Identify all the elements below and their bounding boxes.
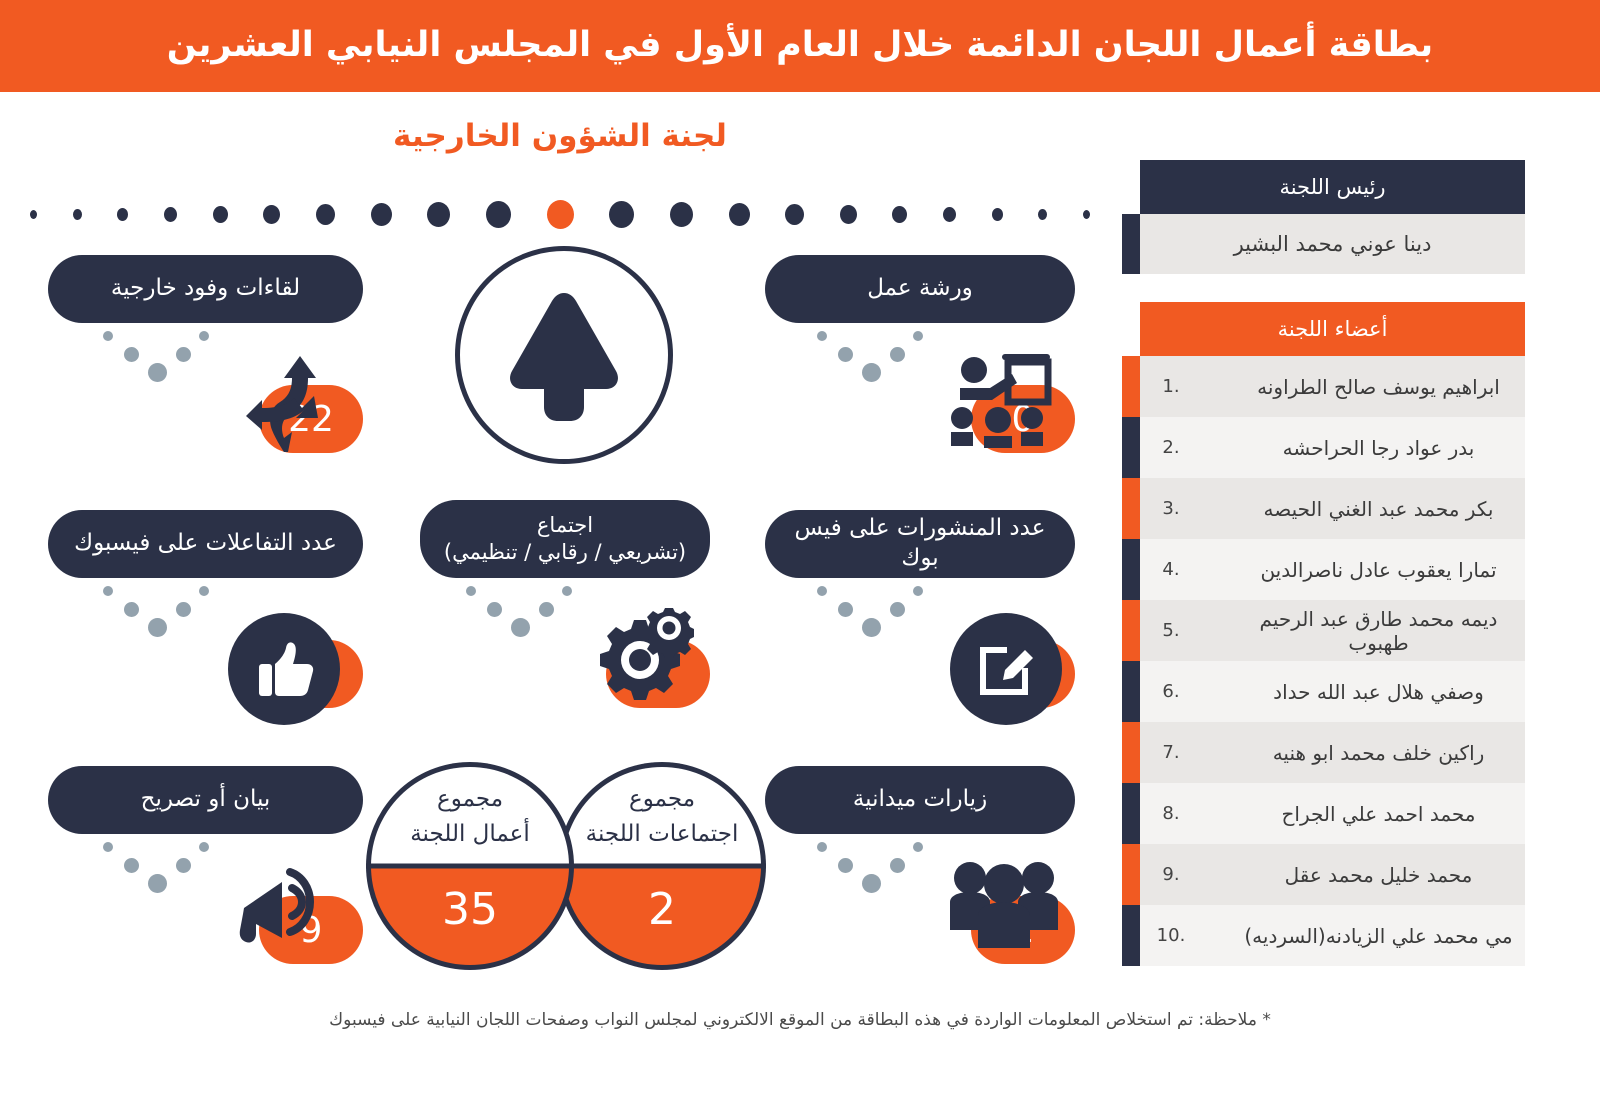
member-name: بكر محمد عبد الغني الحيصه <box>1202 497 1525 521</box>
member-row: بكر محمد عبد الغني الحيصه3. <box>1140 478 1525 539</box>
member-index: 6. <box>1140 681 1202 702</box>
progress-dot <box>943 207 956 222</box>
divider-line <box>366 864 574 869</box>
divider-line <box>558 864 766 869</box>
member-index: 5. <box>1140 620 1202 641</box>
progress-dot <box>486 201 511 228</box>
total-label-line2: أعمال اللجنة <box>410 817 530 852</box>
members-header: أعضاء اللجنة <box>1140 302 1525 356</box>
member-index: 4. <box>1140 559 1202 580</box>
member-row-tab <box>1122 844 1140 905</box>
member-name: ديمه محمد طارق عبد الرحيم طهبوب <box>1202 607 1525 655</box>
member-name: مي محمد علي الزيادنه(السرديه) <box>1202 924 1525 948</box>
people-group-icon <box>948 858 1060 950</box>
chair-section: رئيس اللجنة دينا عوني محمد البشير <box>1125 160 1525 274</box>
member-row-tab <box>1122 478 1140 539</box>
chair-header: رئيس اللجنة <box>1140 160 1525 214</box>
progress-dot <box>1038 209 1047 220</box>
edit-post-icon <box>950 613 1062 725</box>
progress-dot <box>785 204 804 225</box>
member-index: 10. <box>1140 925 1202 946</box>
member-row: مي محمد علي الزيادنه(السرديه)10. <box>1140 905 1525 966</box>
member-name: وصفي هلال عبد الله حداد <box>1202 680 1525 704</box>
progress-dot <box>117 208 128 221</box>
chair-row: دينا عوني محمد البشير <box>1140 214 1525 274</box>
member-row: ديمه محمد طارق عبد الرحيم طهبوب5. <box>1140 600 1525 661</box>
workshop-presentation-icon <box>950 348 1054 448</box>
member-row: محمد احمد علي الجراح8. <box>1140 783 1525 844</box>
member-name: محمد احمد علي الجراح <box>1202 802 1525 826</box>
stat-label-line1: اجتماع <box>537 512 593 539</box>
member-row: بدر عواد رجا الحراحشه2. <box>1140 417 1525 478</box>
chair-name: دينا عوني محمد البشير <box>1234 232 1432 256</box>
panel-spacer <box>1125 274 1525 302</box>
gears-icon <box>580 608 696 704</box>
member-row: تمارا يعقوب عادل ناصرالدين4. <box>1140 539 1525 600</box>
page-title: بطاقة أعمال اللجان الدائمة خلال العام ال… <box>87 24 1513 68</box>
member-row-tab <box>1122 661 1140 722</box>
stat-label: عدد المنشورات على فيس بوك <box>765 510 1075 578</box>
stat-label: لقاءات وفود خارجية <box>48 255 363 323</box>
committee-progress-dots <box>30 196 1090 232</box>
member-row: راكين خلف محمد ابو هنيه7. <box>1140 722 1525 783</box>
progress-dot <box>670 202 693 227</box>
member-name: بدر عواد رجا الحراحشه <box>1202 436 1525 460</box>
megaphone-icon <box>238 862 330 948</box>
member-index: 7. <box>1140 742 1202 763</box>
members-list: ابراهيم يوسف صالح الطراونه1.بدر عواد رجا… <box>1125 356 1525 966</box>
member-row-tab <box>1122 356 1140 417</box>
member-row-tab <box>1122 600 1140 661</box>
total-label: مجموع أعمال اللجنة <box>366 762 574 866</box>
committee-name: لجنة الشؤون الخارجية <box>0 118 1120 154</box>
progress-dot <box>992 208 1003 221</box>
total-value: 35 <box>366 866 574 970</box>
member-index: 8. <box>1140 803 1202 824</box>
member-row-tab <box>1122 783 1140 844</box>
member-name: راكين خلف محمد ابو هنيه <box>1202 741 1525 765</box>
progress-dot <box>30 210 37 219</box>
chair-row-tab <box>1122 214 1140 274</box>
total-label: مجموع اجتماعات اللجنة <box>558 762 766 866</box>
progress-dot <box>213 206 228 223</box>
crossroad-arrows-icon <box>232 352 336 456</box>
stat-label: زيارات ميدانية <box>765 766 1075 834</box>
member-index: 9. <box>1140 864 1202 885</box>
member-row: محمد خليل محمد عقل9. <box>1140 844 1525 905</box>
progress-dot <box>371 203 392 226</box>
member-index: 1. <box>1140 376 1202 397</box>
progress-dot <box>840 205 857 224</box>
member-row-tab <box>1122 905 1140 966</box>
progress-dot-active <box>547 200 574 229</box>
stat-label: بيان أو تصريح <box>48 766 363 834</box>
total-label-line1: مجموع <box>437 782 503 817</box>
progress-dot <box>427 202 450 227</box>
total-value: 2 <box>558 866 766 970</box>
stat-label: اجتماع (تشريعي / رقابي / تنظيمي) <box>420 500 710 578</box>
footnote: * ملاحظة: تم استخلاص المعلومات الواردة ف… <box>0 1010 1600 1030</box>
stat-label: ورشة عمل <box>765 255 1075 323</box>
member-index: 2. <box>1140 437 1202 458</box>
member-row: ابراهيم يوسف صالح الطراونه1. <box>1140 356 1525 417</box>
progress-dot <box>729 203 750 226</box>
member-name: ابراهيم يوسف صالح الطراونه <box>1202 375 1525 399</box>
infographic-page: بطاقة أعمال اللجان الدائمة خلال العام ال… <box>0 0 1600 1100</box>
total-committee-works-circle: مجموع أعمال اللجنة 35 <box>366 762 574 970</box>
progress-dot <box>73 209 82 220</box>
member-row-tab <box>1122 722 1140 783</box>
stat-label: عدد التفاعلات على فيسبوك <box>48 510 363 578</box>
committee-members-panel: رئيس اللجنة دينا عوني محمد البشير أعضاء … <box>1125 160 1525 966</box>
total-label-line2: اجتماعات اللجنة <box>586 817 739 852</box>
total-committee-meetings-circle: مجموع اجتماعات اللجنة 2 <box>558 762 766 970</box>
member-name: محمد خليل محمد عقل <box>1202 863 1525 887</box>
up-arrow-circle-icon <box>455 246 673 464</box>
total-label-line1: مجموع <box>629 782 695 817</box>
thumbs-up-icon <box>228 613 340 725</box>
progress-dot <box>316 204 335 225</box>
member-name: تمارا يعقوب عادل ناصرالدين <box>1202 558 1525 582</box>
member-row-tab <box>1122 417 1140 478</box>
page-header: بطاقة أعمال اللجان الدائمة خلال العام ال… <box>0 0 1600 92</box>
member-index: 3. <box>1140 498 1202 519</box>
progress-dot <box>609 201 634 228</box>
member-row: وصفي هلال عبد الله حداد6. <box>1140 661 1525 722</box>
stat-label-line2: (تشريعي / رقابي / تنظيمي) <box>444 539 686 566</box>
progress-dot <box>263 205 280 224</box>
progress-dot <box>892 206 907 223</box>
progress-dot <box>164 207 177 222</box>
member-row-tab <box>1122 539 1140 600</box>
progress-dot <box>1083 210 1090 219</box>
